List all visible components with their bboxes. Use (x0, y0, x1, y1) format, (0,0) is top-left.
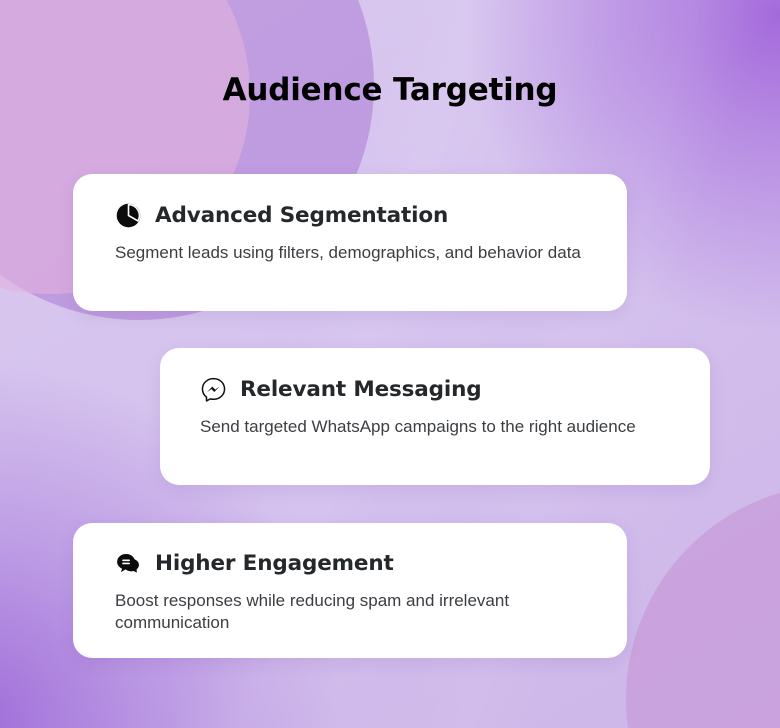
page-title: Audience Targeting (0, 72, 780, 108)
feature-card-higher-engagement: Higher Engagement Boost responses while … (73, 523, 627, 658)
feature-card-relevant-messaging: Relevant Messaging Send targeted WhatsAp… (160, 348, 710, 485)
card-description: Boost responses while reducing spam and … (115, 590, 535, 635)
pie-chart-icon (115, 202, 142, 229)
card-description: Send targeted WhatsApp campaigns to the … (200, 416, 670, 438)
card-title: Advanced Segmentation (155, 203, 448, 228)
card-header: Advanced Segmentation (115, 200, 599, 230)
card-header: Relevant Messaging (200, 374, 682, 404)
infographic-canvas: Audience Targeting Advanced Segmentation… (0, 0, 780, 728)
messenger-bubble-icon (200, 376, 227, 403)
card-description: Segment leads using filters, demographic… (115, 242, 585, 264)
feature-card-advanced-segmentation: Advanced Segmentation Segment leads usin… (73, 174, 627, 311)
chat-bubbles-icon (115, 550, 142, 577)
card-title: Higher Engagement (155, 551, 394, 576)
card-header: Higher Engagement (115, 548, 599, 578)
decorative-circle-bottom-right (626, 484, 780, 728)
card-title: Relevant Messaging (240, 377, 482, 402)
